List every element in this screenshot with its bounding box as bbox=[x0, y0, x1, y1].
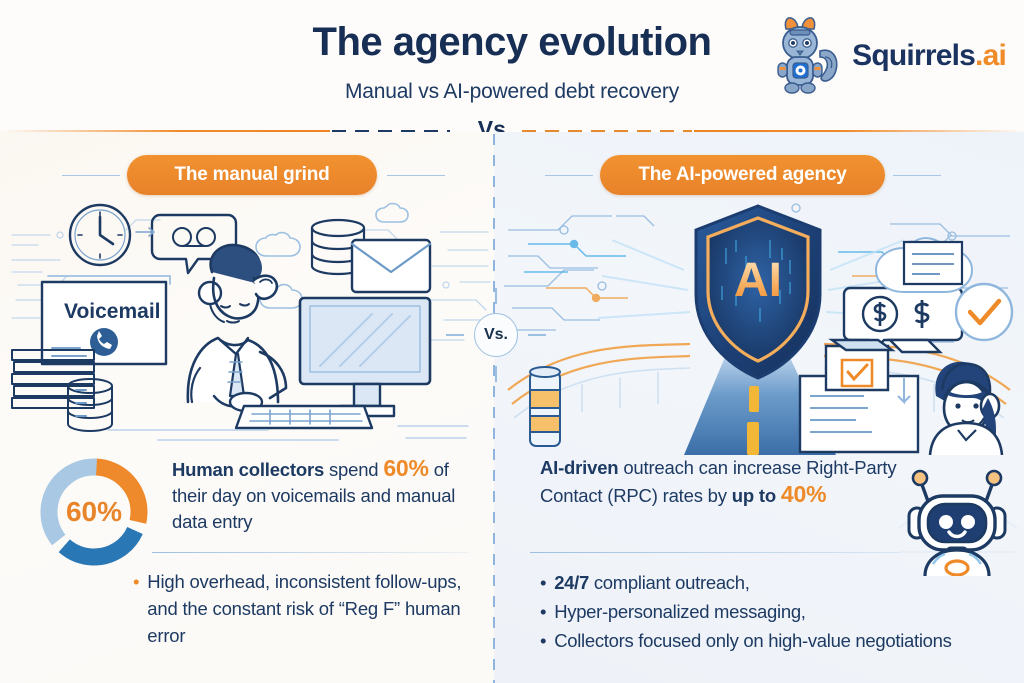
robot-squirrel-mascot-icon bbox=[770, 15, 842, 97]
ai-bullet-rest: Collectors focused only on high-value ne… bbox=[554, 626, 951, 655]
header: The agency evolution Manual vs AI-powere… bbox=[0, 0, 1024, 128]
ai-bullets: • 24/7 compliant outreach, • Hyper-perso… bbox=[540, 568, 1010, 655]
vs-tick-right bbox=[528, 334, 546, 336]
bullet-dot-icon: • bbox=[540, 568, 546, 597]
pill-rule-left-b bbox=[387, 175, 445, 176]
bullet-dot-icon: • bbox=[133, 568, 139, 649]
manual-bullets: • High overhead, inconsistent follow-ups… bbox=[133, 568, 483, 649]
list-item: • High overhead, inconsistent follow-ups… bbox=[133, 568, 483, 649]
list-item: • Hyper-personalized messaging, bbox=[540, 597, 1010, 626]
ai-bullet-rest: compliant outreach, bbox=[589, 572, 750, 593]
manual-bullet-text: High overhead, inconsistent follow-ups, … bbox=[147, 568, 483, 649]
ai-bullet-bold: 24/7 bbox=[554, 572, 589, 593]
pill-rule-left-a bbox=[62, 175, 120, 176]
manual-stat-figure: 60% bbox=[383, 455, 428, 481]
svg-text:Voicemail: Voicemail bbox=[64, 300, 161, 323]
donut-center-label: 60% bbox=[34, 452, 154, 572]
manual-stat-lead: Human collectors bbox=[172, 459, 324, 480]
panel-manual-header-pill[interactable]: The manual grind bbox=[127, 155, 377, 195]
pill-rule-right-a bbox=[545, 175, 593, 176]
vs-tick-left bbox=[446, 334, 464, 336]
brand-name-accent: .ai bbox=[975, 39, 1006, 72]
ai-stat-text: AI-driven outreach can increase Right-Pa… bbox=[540, 455, 940, 509]
panel-ai-header-pill[interactable]: The AI-powered agency bbox=[600, 155, 885, 195]
ai-bullet-text: 24/7 compliant outreach, bbox=[554, 568, 749, 597]
ai-agency-illustration: AI bbox=[498, 190, 1024, 455]
manual-grind-illustration: Voicemail bbox=[8, 190, 494, 455]
ai-robot-mascot-icon bbox=[895, 452, 1019, 576]
shield-ai-text: AI bbox=[734, 254, 782, 307]
brand-name-main: Squirrels bbox=[852, 39, 975, 72]
vs-tick-top bbox=[495, 288, 497, 304]
list-item: • Collectors focused only on high-value … bbox=[540, 626, 1010, 655]
brand-name: Squirrels.ai bbox=[852, 39, 1006, 73]
ai-stat-bold2: up to bbox=[732, 485, 781, 506]
manual-stat-text: Human collectors spend 60% of their day … bbox=[172, 455, 480, 535]
manual-stat-mid: spend bbox=[324, 459, 383, 480]
ai-bullet-rest: Hyper-personalized messaging, bbox=[554, 597, 805, 626]
bullet-dot-icon: • bbox=[540, 626, 546, 655]
manual-separator bbox=[152, 552, 470, 553]
infographic-canvas: The agency evolution Manual vs AI-powere… bbox=[0, 0, 1024, 683]
vs-center-badge: Vs. bbox=[474, 313, 518, 357]
ai-stat-lead: AI-driven bbox=[540, 457, 618, 478]
vs-tick-bottom bbox=[495, 366, 497, 382]
manual-bullet-bold: High overhead bbox=[147, 571, 265, 592]
pill-rule-right-b bbox=[893, 175, 941, 176]
ai-stat-figure: 40% bbox=[781, 481, 826, 507]
bullet-dot-icon: • bbox=[540, 597, 546, 626]
brand-logo[interactable]: Squirrels.ai bbox=[770, 14, 1006, 98]
